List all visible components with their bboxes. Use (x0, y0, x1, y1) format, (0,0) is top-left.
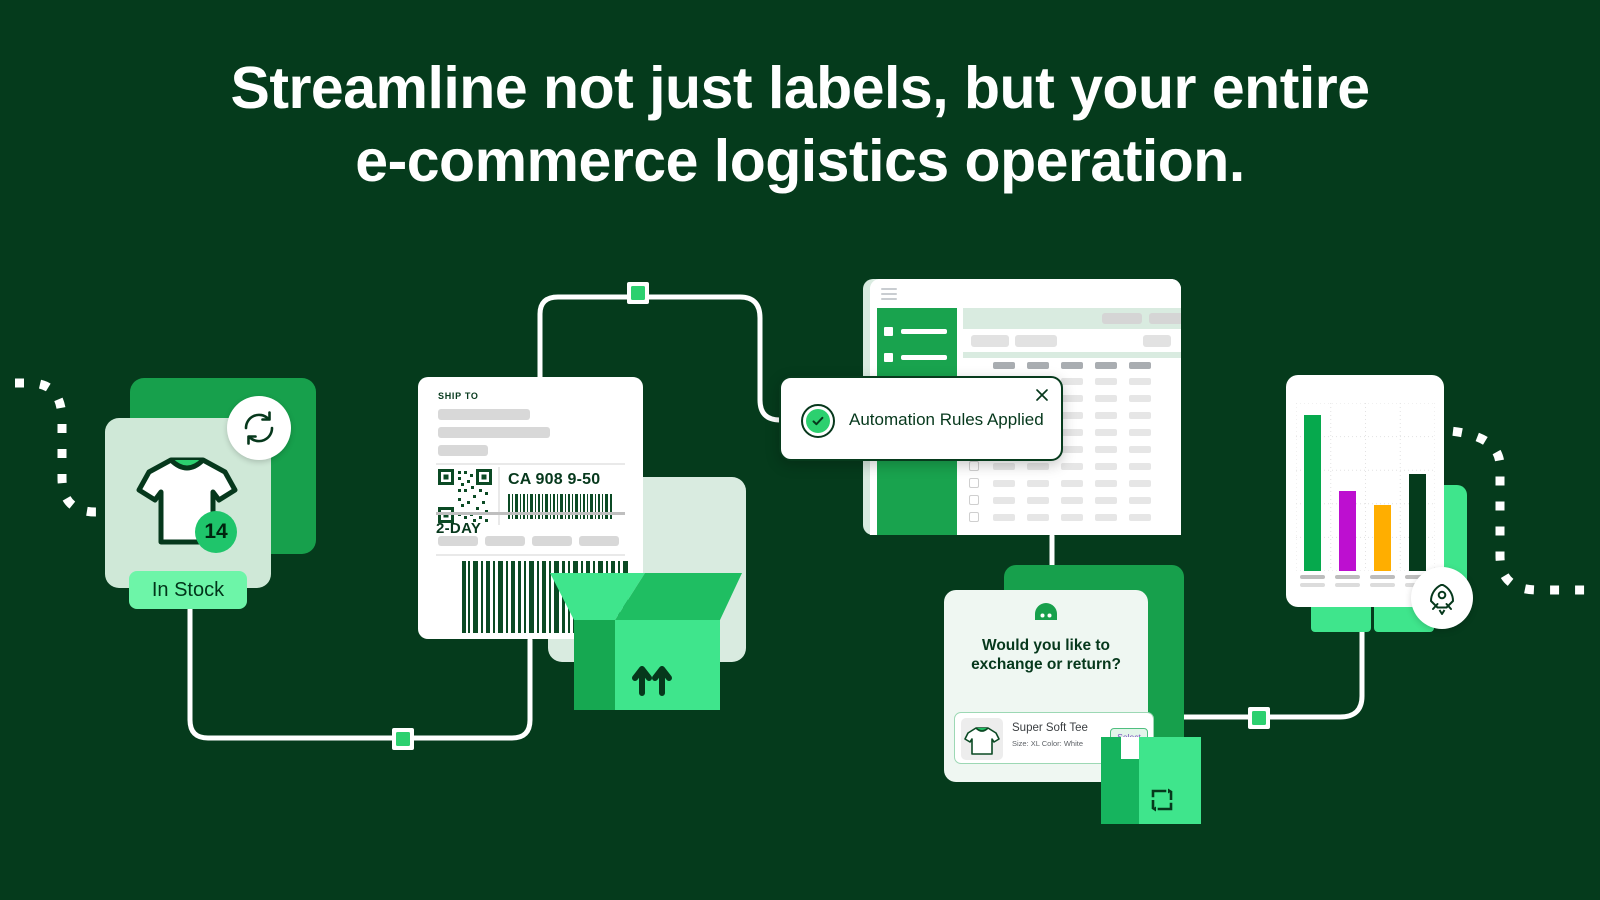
return-box (1101, 737, 1201, 824)
x-tick-sublabel (1335, 583, 1360, 587)
inventory-quantity-badge: 14 (195, 511, 237, 553)
address-line-3-placeholder (438, 445, 488, 456)
sidebar-item-bullet-icon (884, 327, 893, 336)
bar-2 (1339, 491, 1356, 571)
label-vertical-separator (498, 467, 500, 525)
tab-chip[interactable] (1102, 313, 1142, 324)
bar-3 (1374, 505, 1391, 571)
x-tick-label (1335, 575, 1360, 579)
open-box-icon (550, 525, 760, 710)
tshirt-thumbnail-icon (961, 718, 1003, 760)
flow-node-bottom-left (392, 728, 414, 750)
bar-1 (1304, 415, 1321, 571)
x-tick-sublabel (1370, 583, 1395, 587)
chart-panel (1286, 375, 1444, 607)
table-header-cell (1095, 362, 1117, 369)
product-attributes: Size: XL Color: White (1012, 739, 1083, 748)
close-x-icon[interactable] (1033, 386, 1051, 404)
flow-node-bottom-right (1248, 707, 1270, 729)
tab-chip[interactable] (1149, 313, 1181, 324)
flow-node-top (627, 282, 649, 304)
check-circle-icon (801, 404, 835, 438)
dashboard-topbar (870, 279, 1181, 308)
table-header-cell (1061, 362, 1083, 369)
refresh-sync-icon[interactable] (227, 396, 291, 460)
x-tick-label (1370, 575, 1395, 579)
sidebar-item[interactable] (884, 353, 946, 362)
dashboard-tabbar[interactable] (963, 308, 1181, 329)
chat-bot-avatar-icon (1034, 603, 1058, 620)
sidebar-item-label-placeholder (901, 355, 947, 360)
analytics-card[interactable] (1286, 375, 1486, 635)
label-meta-1 (438, 536, 478, 546)
chat-question-line-1: Would you like to (952, 636, 1140, 655)
label-divider-2 (436, 512, 625, 515)
table-header-cell (993, 362, 1015, 369)
table-header-cell (1027, 362, 1049, 369)
x-tick-sublabel (1300, 583, 1325, 587)
label-divider-1 (436, 463, 625, 465)
hamburger-menu-icon[interactable] (881, 288, 897, 300)
dashboard-filterbar[interactable] (963, 329, 1181, 352)
address-line-1-placeholder (438, 409, 530, 420)
ship-to-label: SHIP TO (438, 391, 479, 401)
tracking-number: CA 908 9-50 (508, 471, 600, 489)
sidebar-item-label-placeholder (901, 329, 947, 334)
table-header-cell (1129, 362, 1151, 369)
service-level: 2-DAY (436, 520, 481, 537)
x-tick-label (1300, 575, 1325, 579)
return-box-tape (1121, 737, 1139, 759)
filter-chip[interactable] (1015, 335, 1057, 347)
address-line-2-placeholder (438, 427, 550, 438)
sidebar-item[interactable] (884, 327, 946, 336)
product-name: Super Soft Tee (1012, 722, 1088, 734)
bar-chart (1296, 403, 1435, 571)
inventory-card[interactable]: 14 In Stock (105, 378, 330, 610)
chat-question: Would you like to exchange or return? (952, 636, 1140, 674)
status-badge: In Stock (129, 571, 247, 609)
toast-message: Automation Rules Applied (849, 410, 1044, 430)
label-meta-2 (485, 536, 525, 546)
exchange-return-arrows-icon (1149, 787, 1175, 813)
filter-chip[interactable] (1143, 335, 1171, 347)
bar-4 (1409, 474, 1426, 571)
chat-question-line-2: exchange or return? (952, 655, 1140, 674)
rocket-icon[interactable] (1411, 567, 1473, 629)
filter-chip[interactable] (971, 335, 1009, 347)
infographic-canvas: Streamline not just labels, but your ent… (0, 0, 1600, 900)
barcode-icon (508, 494, 613, 519)
sidebar-item-bullet-icon (884, 353, 893, 362)
notification-toast[interactable]: Automation Rules Applied (779, 376, 1063, 461)
